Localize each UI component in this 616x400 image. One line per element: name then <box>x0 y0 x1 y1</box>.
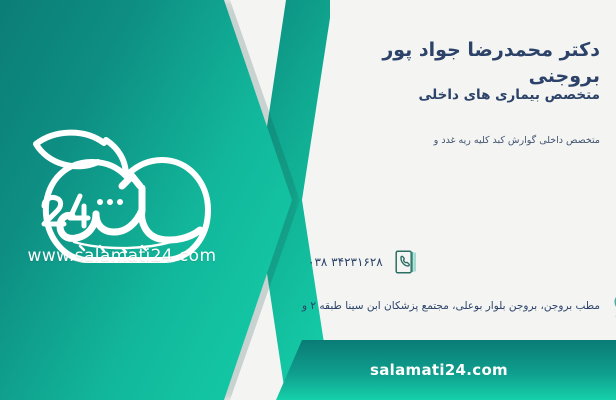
footer-bar: salamati24.com <box>276 340 616 400</box>
doctor-specialty: متخصص بیماری های داخلی <box>310 85 600 105</box>
phone-row[interactable]: ۳۴۲۳۱۶۲۸ ۰۳۸ <box>308 248 604 276</box>
logo-website-url: www.salamati24.com <box>14 246 230 266</box>
phone-number: ۳۴۲۳۱۶۲۸ ۰۳۸ <box>308 254 383 270</box>
clinic-address: مطب بروجن، بروجن بلوار بوعلی، مجتمع پزشک… <box>302 298 600 314</box>
doctor-business-card: www.salamati24.com دکتر محمدرضا جواد پور… <box>0 0 616 400</box>
footer-website[interactable]: salamati24.com <box>276 340 616 400</box>
address-row[interactable]: مطب بروجن، بروجن بلوار بوعلی، مجتمع پزشک… <box>302 292 604 320</box>
salamati24-logo: www.salamati24.com <box>14 110 230 275</box>
map-pin-icon <box>610 292 616 320</box>
doctor-sub-specialty: متخصص داخلی گوارش کبد کلیه ریه غدد و <box>310 133 600 149</box>
phone-book-icon <box>393 248 419 276</box>
doctor-name: دکتر محمدرضا جواد پور بروجنی <box>310 37 600 89</box>
